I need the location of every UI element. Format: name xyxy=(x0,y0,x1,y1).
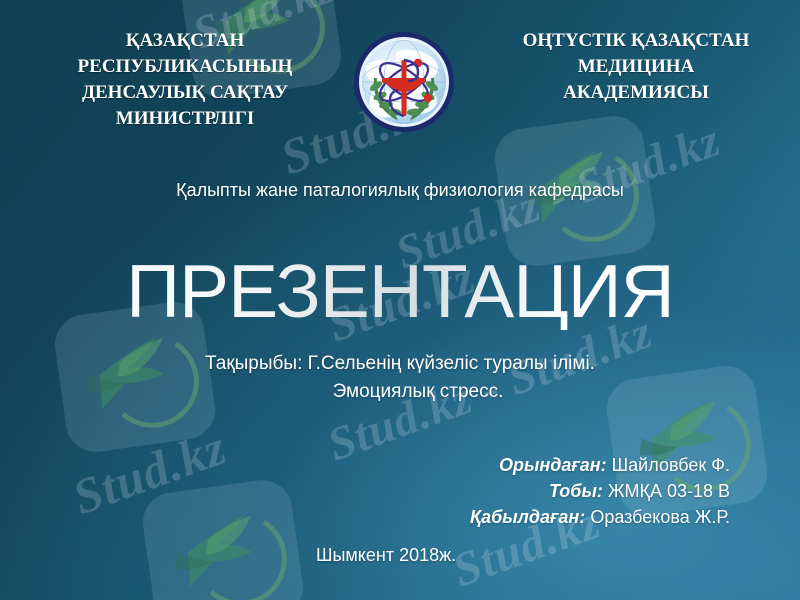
stud-kz-watermark-text: Stud.kz xyxy=(65,418,234,527)
topic-line-2: Эмоциялық стресс. xyxy=(0,378,800,406)
department-subtitle: Қалыпты жане паталогиялық физиология каф… xyxy=(0,180,800,201)
credits-block: Орындаған: Шайловбек Ф. Тобы: ЖМҚА 03-18… xyxy=(470,452,730,530)
topic-line-1: Тақырыбы: Г.Сельенің күйзеліс туралы ілі… xyxy=(205,353,595,374)
academy-header-text: ОҢТҮСТІК ҚАЗАҚСТАН МЕДИЦИНА АКАДЕМИЯСЫ xyxy=(506,28,766,106)
credit-label-author: Орындаған: xyxy=(499,455,607,475)
stud-kz-bird-badge-icon xyxy=(139,476,307,600)
city-year-footer: Шымкент 2018ж. xyxy=(316,545,456,566)
academy-emblem-icon xyxy=(352,30,456,134)
ministry-header-text: ҚАЗАҚСТАН РЕСПУБЛИКАСЫНЫҢ ДЕНСАУЛЫҚ САҚТ… xyxy=(40,28,330,132)
credit-row-group: Тобы: ЖМҚА 03-18 В xyxy=(470,478,730,504)
credit-row-author: Орындаған: Шайловбек Ф. xyxy=(470,452,730,478)
presentation-slide: Stud.kzStud.kzStud.kz - Stud.kzStud.kzSt… xyxy=(0,0,800,600)
topic-block: Тақырыбы: Г.Сельенің күйзеліс туралы ілі… xyxy=(0,350,800,406)
credit-row-supervisor: Қабылдаған: Оразбекова Ж.Р. xyxy=(470,504,730,530)
slide-title: ПРЕЗЕНТАЦИЯ xyxy=(0,252,800,330)
credit-value-group: ЖМҚА 03-18 В xyxy=(608,481,730,501)
credit-label-supervisor: Қабылдаған: xyxy=(470,507,585,527)
credit-value-author: Шайловбек Ф. xyxy=(612,455,730,475)
credit-value-supervisor: Оразбекова Ж.Р. xyxy=(590,507,730,527)
credit-label-group: Тобы: xyxy=(549,481,603,501)
